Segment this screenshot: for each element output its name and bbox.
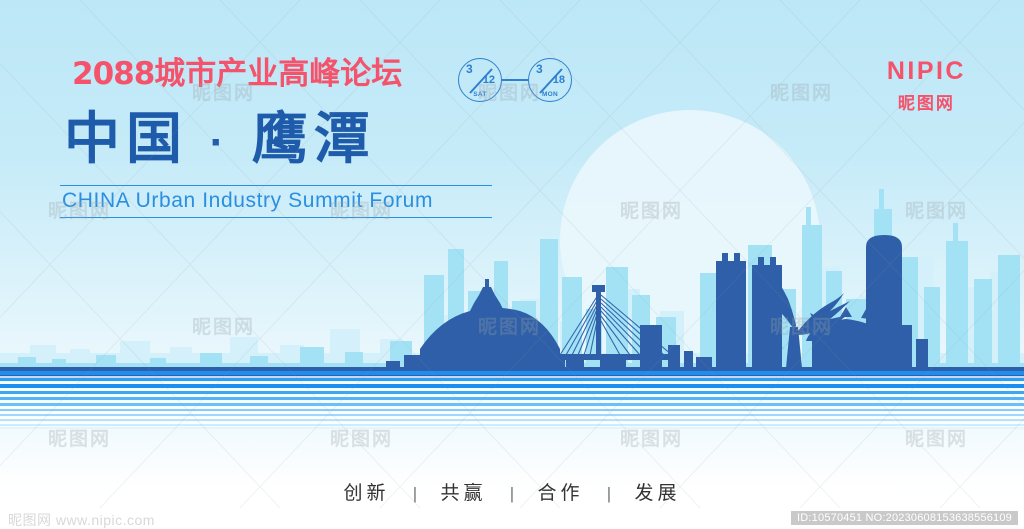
slogan-item-1: 创新 xyxy=(343,483,389,504)
headline-year: 2088 xyxy=(72,56,154,92)
subtitle-text: CHINA Urban Industry Summit Forum xyxy=(60,186,492,217)
nipic-logo: NIPIC 昵图网 xyxy=(887,58,966,114)
slogan-row: 创新 | 共赢 | 合作 | 发展 xyxy=(0,478,1024,505)
date-badge-end: 3 18 MON xyxy=(528,58,572,102)
footer-id-text: ID:10570451 NO:20230608153638556109 xyxy=(791,511,1018,525)
water-stripe-band xyxy=(0,371,1024,429)
event-headline: 2088城市产业高峰论坛 xyxy=(72,58,402,90)
end-weekday: MON xyxy=(529,91,571,98)
city-dot-separator: · xyxy=(210,118,231,167)
start-month: 3 xyxy=(466,62,473,76)
slogan-separator: | xyxy=(607,484,611,503)
footer-site-text: 昵图网 www.nipic.com xyxy=(8,510,155,529)
slogan-item-2: 共赢 xyxy=(440,483,486,504)
subtitle-block: CHINA Urban Industry Summit Forum xyxy=(60,185,492,218)
city-title: 中国 · 鹰潭 xyxy=(64,108,376,170)
slogan-separator: | xyxy=(510,484,514,503)
poster-canvas: 2088城市产业高峰论坛 中国 · 鹰潭 CHINA Urban Industr… xyxy=(0,0,1024,529)
slogan-item-4: 发展 xyxy=(634,483,680,504)
city-country: 中国 xyxy=(64,107,188,170)
headline-chinese: 城市产业高峰论坛 xyxy=(154,56,402,91)
date-connector-line xyxy=(502,79,528,81)
start-day: 12 xyxy=(483,74,495,86)
date-badge-start: 3 12 SAT xyxy=(458,58,502,102)
nipic-logo-english: NIPIC xyxy=(887,58,966,86)
end-day: 18 xyxy=(553,74,565,86)
end-month: 3 xyxy=(536,62,543,76)
slogan-separator: | xyxy=(413,484,417,503)
footer-bar: 昵图网 www.nipic.com ID:10570451 NO:2023060… xyxy=(0,508,1024,529)
city-name: 鹰潭 xyxy=(252,107,376,170)
watermark-text: 昵图网 xyxy=(770,78,833,105)
start-weekday: SAT xyxy=(459,91,501,98)
nipic-logo-chinese: 昵图网 xyxy=(887,89,966,114)
slogan-item-3: 合作 xyxy=(537,483,583,504)
subtitle-rule-bottom xyxy=(60,217,492,218)
near-skyline-landmarks xyxy=(0,199,1024,379)
date-range-badges: 3 12 SAT 3 18 MON xyxy=(458,58,578,104)
